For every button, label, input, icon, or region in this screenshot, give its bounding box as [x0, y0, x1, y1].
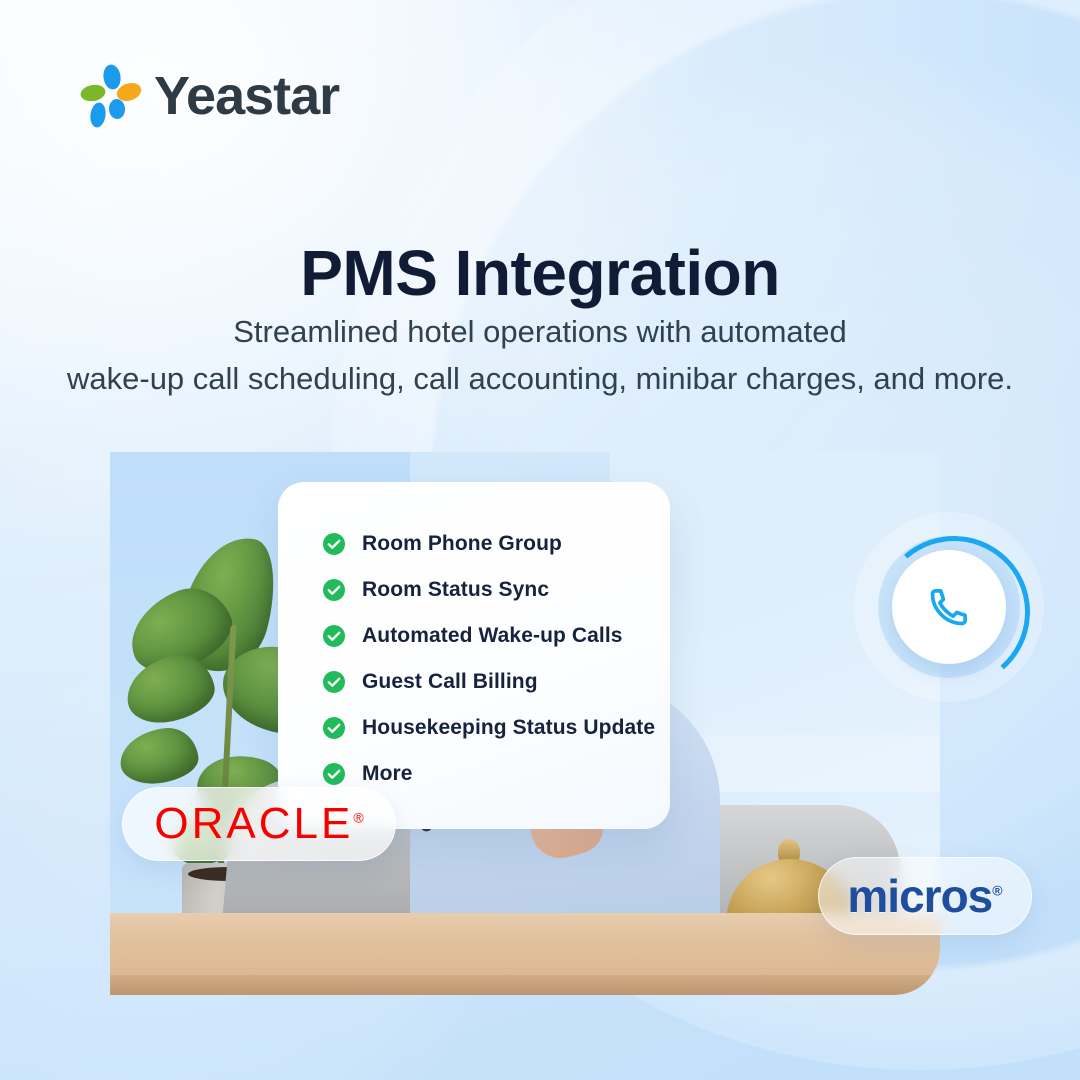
feature-list: Room Phone Group Room Status Sync Automa…: [278, 528, 670, 789]
oracle-registered-mark: ®: [353, 809, 363, 825]
page-subtitle: Streamlined hotel operations with automa…: [0, 308, 1080, 402]
yeastar-pinwheel-logo-icon: [78, 64, 142, 128]
desk-front-edge: [110, 975, 940, 995]
partner-badge-oracle[interactable]: ORACLE®: [122, 787, 396, 861]
reception-desk: [110, 913, 940, 995]
feature-label: Housekeeping Status Update: [362, 716, 655, 740]
phone-badge: [840, 500, 1070, 730]
list-item[interactable]: Housekeeping Status Update: [278, 712, 670, 743]
oracle-logo-icon: ORACLE®: [154, 802, 363, 846]
list-item[interactable]: Room Phone Group: [278, 528, 670, 559]
feature-label: Guest Call Billing: [362, 670, 538, 694]
check-circle-icon: [322, 578, 346, 602]
check-circle-icon: [322, 624, 346, 648]
micros-registered-mark: ®: [992, 883, 1002, 899]
oracle-wordmark: ORACLE: [154, 799, 353, 848]
list-item[interactable]: More: [278, 758, 670, 789]
list-item[interactable]: Automated Wake-up Calls: [278, 620, 670, 651]
pms-integration-poster: Yeastar PMS Integration Streamlined hote…: [0, 0, 1080, 1080]
check-circle-icon: [322, 762, 346, 786]
feature-label: Automated Wake-up Calls: [362, 624, 623, 648]
phone-icon-circle[interactable]: [892, 550, 1006, 664]
subtitle-line-1: Streamlined hotel operations with automa…: [0, 308, 1080, 355]
feature-label: More: [362, 762, 413, 786]
list-item[interactable]: Guest Call Billing: [278, 666, 670, 697]
check-circle-icon: [322, 716, 346, 740]
micros-logo-icon: micros®: [847, 873, 1002, 919]
brand-wordmark: Yeastar: [154, 69, 339, 123]
feature-label: Room Phone Group: [362, 532, 562, 556]
brand-logo[interactable]: Yeastar: [78, 64, 339, 128]
page-title: PMS Integration: [0, 239, 1080, 308]
check-circle-icon: [322, 670, 346, 694]
subtitle-line-2: wake-up call scheduling, call accounting…: [0, 355, 1080, 402]
feature-label: Room Status Sync: [362, 578, 549, 602]
list-item[interactable]: Room Status Sync: [278, 574, 670, 605]
micros-wordmark: micros: [847, 870, 992, 922]
phone-handset-icon: [927, 585, 971, 629]
check-circle-icon: [322, 532, 346, 556]
partner-badge-micros[interactable]: micros®: [818, 857, 1032, 935]
feature-list-card: Room Phone Group Room Status Sync Automa…: [278, 482, 670, 829]
